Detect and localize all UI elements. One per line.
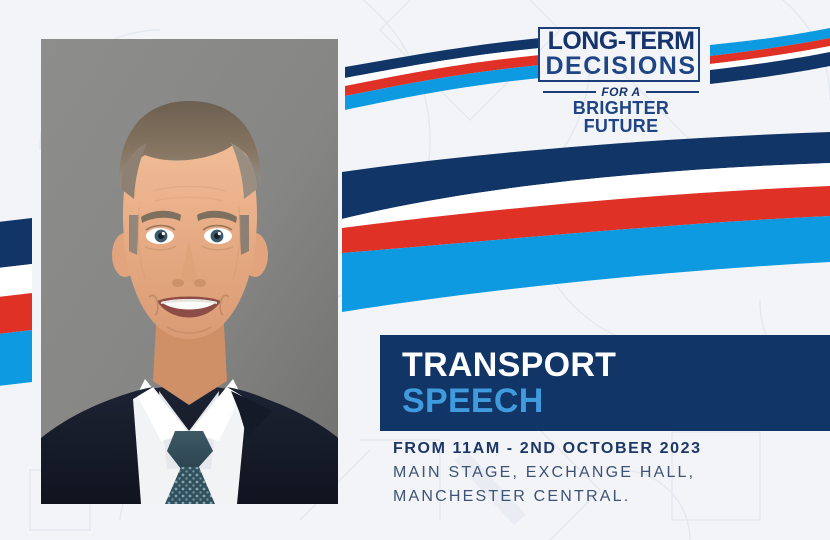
ribbon-top-left bbox=[345, 38, 540, 110]
logo-line-for-a: FOR A bbox=[601, 85, 640, 99]
campaign-logo: LONG-TERM DECISIONS FOR A BRIGHTER FUTUR… bbox=[533, 22, 709, 108]
event-venue-line-1: MAIN STAGE, EXCHANGE HALL, bbox=[393, 461, 823, 485]
ribbon-left-edge bbox=[0, 218, 32, 388]
ribbon-top-right bbox=[710, 28, 830, 84]
event-subtitle: SPEECH bbox=[402, 383, 544, 419]
event-details: FROM 11AM - 2ND OCTOBER 2023 MAIN STAGE,… bbox=[393, 437, 823, 509]
logo-line-brighter-future: BRIGHTER FUTURE bbox=[533, 99, 709, 135]
event-title-panel: TRANSPORT SPEECH bbox=[380, 335, 830, 431]
event-title: TRANSPORT bbox=[402, 347, 616, 383]
logo-rule-right bbox=[646, 91, 699, 93]
logo-line-decisions: DECISIONS bbox=[533, 54, 709, 79]
speaker-portrait bbox=[41, 39, 338, 504]
logo-line-long-term: LONG-TERM bbox=[533, 29, 709, 54]
logo-rule-left bbox=[543, 91, 596, 93]
event-time-date: FROM 11AM - 2ND OCTOBER 2023 bbox=[393, 437, 823, 461]
logo-for-a-row: FOR A bbox=[543, 85, 699, 99]
event-venue-line-2: MANCHESTER CENTRAL. bbox=[393, 485, 823, 509]
poster-canvas: LONG-TERM DECISIONS FOR A BRIGHTER FUTUR… bbox=[0, 0, 830, 540]
ribbon-main bbox=[342, 132, 830, 312]
